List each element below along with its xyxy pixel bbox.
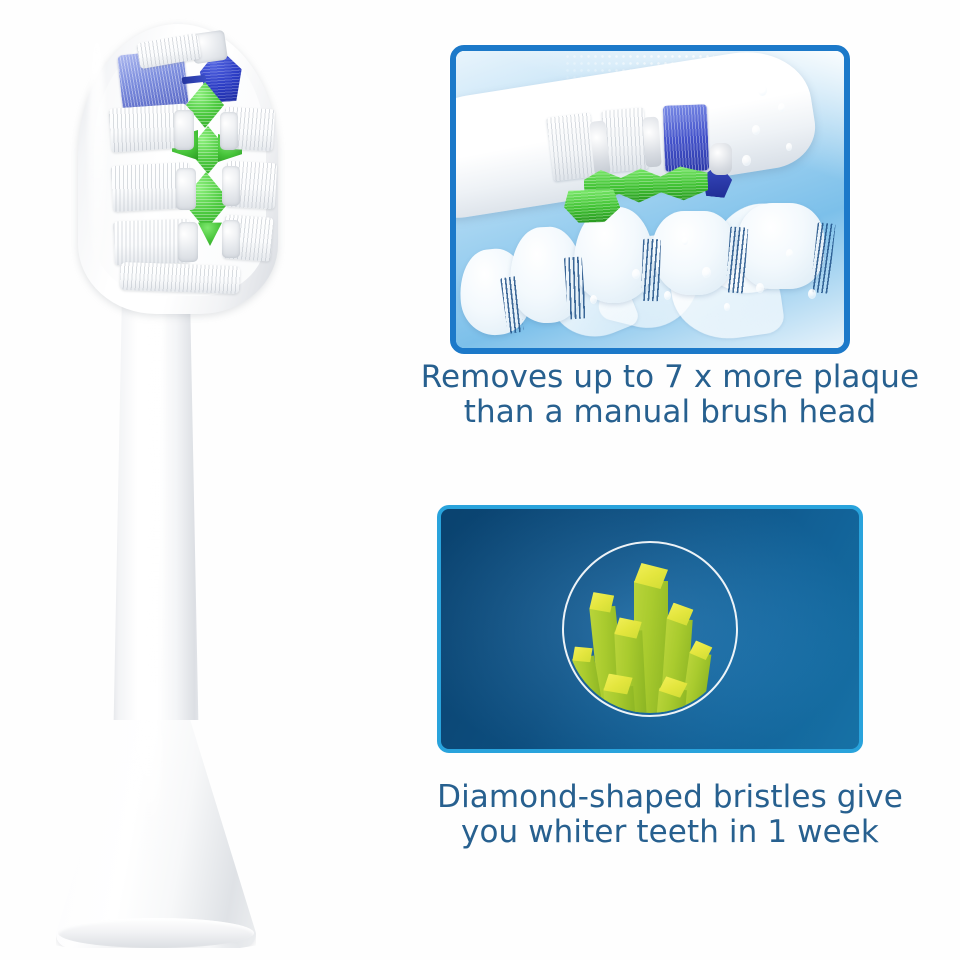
water-droplet-6 [632,269,640,279]
water-droplet-3 [752,125,760,135]
infographic-stage: Removes up to 7 x more plaque than a man… [0,0,960,960]
tooth-4-molar [652,211,736,295]
green-bristle-connector-3 [198,220,222,246]
water-droplet-11 [590,295,597,304]
panel1-bristle-tip-3 [710,143,732,175]
water-droplet-1 [758,85,767,96]
panel1-blue-bristle [663,104,709,171]
water-droplet-14 [682,237,688,245]
brush-neck-highlight [150,258,164,688]
panel-diamond-bristles [437,505,863,753]
caption-diamond-line2: you whiter teeth in 1 week [380,815,960,850]
water-droplet-12 [786,249,793,258]
caption-diamond-line1: Diamond-shaped bristles give [437,779,903,815]
blue-bristle-bridge [182,75,207,84]
product-toothbrush-head-image [0,0,380,960]
water-droplet-10 [756,283,764,293]
water-droplet-5 [742,155,751,166]
brush-handle-rim [58,918,254,948]
bristle-field [96,30,286,295]
water-droplet-2 [778,103,785,112]
water-droplet-7 [664,291,671,300]
caption-plaque-removal: Removes up to 7 x more plaque than a man… [380,360,960,429]
white-bristle-tip-left-2 [176,168,196,210]
caption-diamond-bristles: Diamond-shaped bristles give you whiter … [380,780,960,849]
water-droplet-8 [702,267,711,278]
right-content-column: Removes up to 7 x more plaque than a man… [380,0,960,960]
white-bristle-tip-left-1 [174,110,194,150]
caption-plaque-line2: than a manual brush head [380,395,960,430]
white-bristle-tip-left-3 [178,222,198,262]
water-droplet-9 [724,303,730,311]
diamond-bristle-prisms [566,545,734,713]
water-droplet-4 [786,143,792,151]
panel-plaque-removal [450,45,850,354]
white-bristle-block-top [136,33,202,69]
brush-handle-highlight [136,706,162,856]
water-droplet-13 [808,289,816,299]
white-bristle-tip-right-1 [220,112,238,150]
caption-plaque-line1: Removes up to 7 x more plaque [421,359,919,395]
white-bristle-tip-right-3 [222,220,240,258]
white-bristle-tip-right-2 [222,166,240,206]
plaque-stripe-3 [641,239,661,302]
panel1-bristle-tip-2 [642,117,661,168]
bristle-prism-front-right [656,676,688,713]
bristle-prism-front-left [602,672,635,713]
white-bristle-block-front [120,262,241,294]
